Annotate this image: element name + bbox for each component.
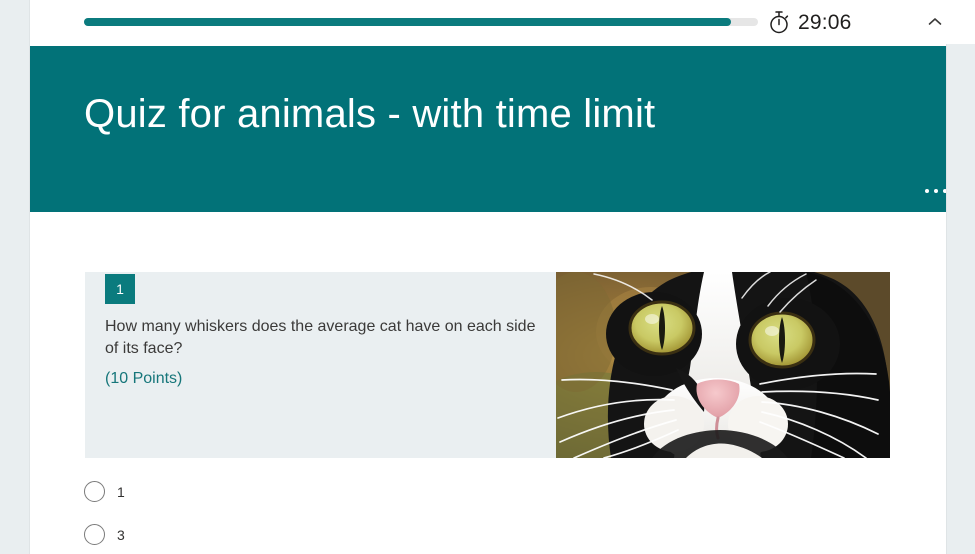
quiz-progress-fill bbox=[84, 18, 731, 26]
radio-button-icon[interactable] bbox=[84, 481, 105, 502]
chevron-up-icon bbox=[928, 17, 942, 27]
form-more-options-button[interactable] bbox=[914, 174, 946, 208]
quiz-page: 29:06 Quiz for animals - with time limit… bbox=[0, 0, 975, 554]
question-image-cat bbox=[556, 272, 890, 458]
stopwatch-icon bbox=[768, 10, 790, 34]
quiz-toolbar: 29:06 bbox=[30, 0, 975, 44]
radio-button-icon[interactable] bbox=[84, 524, 105, 545]
timer-value: 29:06 bbox=[798, 12, 852, 33]
question-points: (10 Points) bbox=[105, 368, 182, 390]
question-text: How many whiskers does the average cat h… bbox=[105, 316, 545, 361]
answer-option-1[interactable]: 1 bbox=[84, 481, 125, 502]
answer-option-label: 1 bbox=[117, 485, 125, 499]
quiz-progress-bar bbox=[84, 18, 758, 26]
page-title: Quiz for animals - with time limit bbox=[84, 92, 655, 136]
timer-group: 29:06 bbox=[768, 6, 852, 38]
ellipsis-icon bbox=[925, 189, 946, 193]
answer-option-label: 3 bbox=[117, 528, 125, 542]
question-card: 1 How many whiskers does the average cat… bbox=[85, 272, 890, 458]
question-number-badge: 1 bbox=[105, 274, 135, 304]
collapse-toolbar-button[interactable] bbox=[918, 6, 952, 38]
form-banner: Quiz for animals - with time limit bbox=[30, 46, 946, 212]
answer-option-2[interactable]: 3 bbox=[84, 524, 125, 545]
